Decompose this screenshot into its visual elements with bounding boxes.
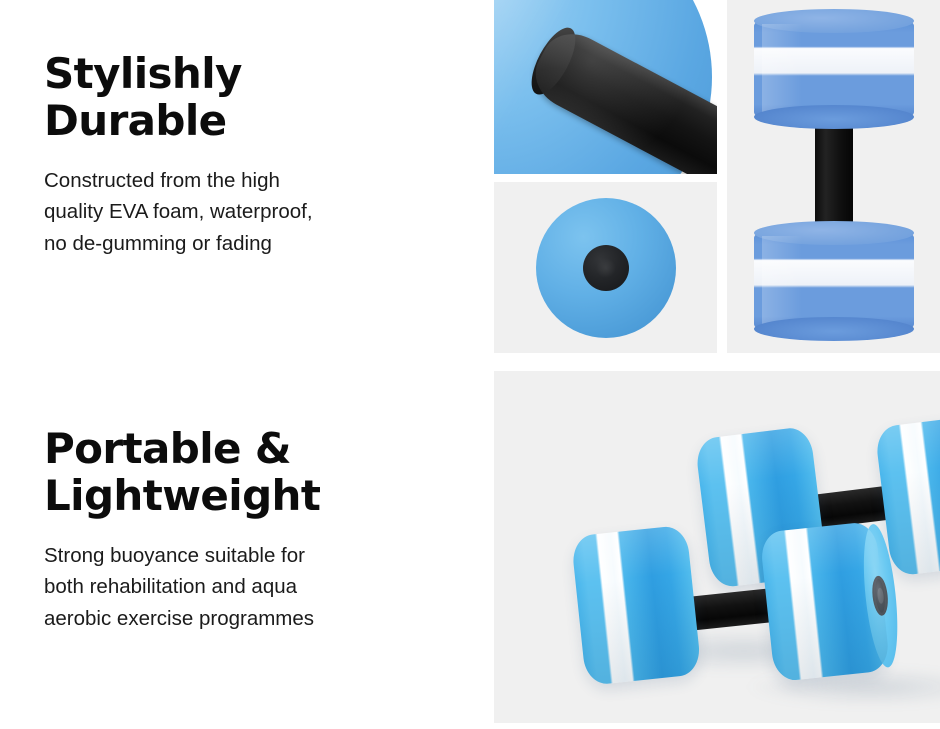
- dumbbell-pair-stage: [494, 371, 940, 723]
- disc-centre-hub-shape: [583, 245, 629, 291]
- feature-body-durable: Constructed from the high quality EVA fo…: [44, 165, 464, 259]
- dumbbell-back: [647, 408, 940, 449]
- feature-text-column: Stylishly Durable Constructed from the h…: [0, 0, 494, 729]
- feature-block-portable: Portable & Lightweight Strong buoyance s…: [44, 425, 464, 634]
- dumbbell-foam-cylinder-bottom: [754, 232, 914, 330]
- weight-foam-body: [571, 525, 702, 686]
- cylinder-sheen-bottom: [762, 236, 802, 324]
- product-feature-page: Stylishly Durable Constructed from the h…: [0, 0, 940, 729]
- feature-title-durable: Stylishly Durable: [44, 50, 464, 145]
- product-photo-handle-closeup: [494, 0, 717, 174]
- dumbbell-foam-cylinder-top: [754, 20, 914, 118]
- foam-disc-outer-shape: [536, 198, 676, 338]
- product-photo-vertical-dumbbell: [727, 0, 940, 353]
- feature-body-portable: Strong buoyance suitable for both rehabi…: [44, 540, 464, 634]
- feature-title-portable: Portable & Lightweight: [44, 425, 464, 520]
- feature-block-durable: Stylishly Durable Constructed from the h…: [44, 50, 464, 259]
- dumbbell-front-weight-left: [571, 525, 702, 686]
- product-photo-disc-end-on: [494, 182, 717, 353]
- cylinder-sheen-top: [762, 24, 802, 112]
- dumbbell-front-weight-right: [759, 521, 890, 682]
- product-photo-dumbbell-pair: [494, 371, 940, 723]
